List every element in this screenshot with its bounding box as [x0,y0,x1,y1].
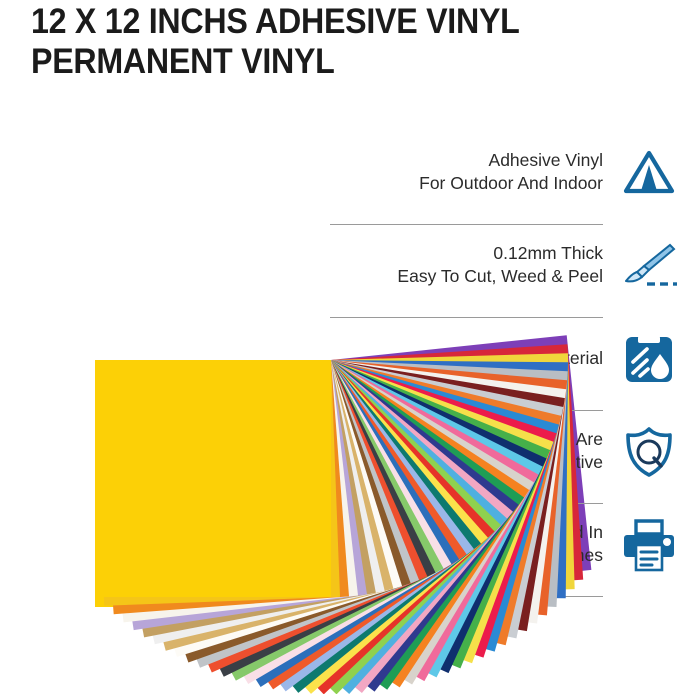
feature-text-adhesive-vinyl: Adhesive Vinyl For Outdoor And Indoor [328,132,603,212]
feature-text-thickness: 0.12mm Thick Easy To Cut, Weed & Peel [328,225,603,305]
page-title-line-1: 12 X 12 INCHS ADHESIVE VINYL [31,2,601,42]
feature-line: For Outdoor And Indoor [419,172,603,195]
vinyl-sheet [95,360,331,597]
quality-shield-icon [621,425,677,479]
feature-row-thickness: 0.12mm Thick Easy To Cut, Weed & Peel [330,225,679,318]
page-title: 12 X 12 INCHS ADHESIVE VINYL PERMANENT V… [31,2,651,82]
craft-knife-icon [621,239,677,293]
product-image-vinyl-fan [0,110,340,597]
feature-line: 0.12mm Thick [493,242,603,265]
tent-icon [621,146,677,200]
vinyl-sheet-fan [0,110,340,597]
feature-line: Easy To Cut, Weed & Peel [397,265,603,288]
printer-icon [621,518,677,572]
page-title-line-2: PERMANENT VINYL [31,42,601,82]
waterproof-icon [621,332,677,386]
feature-line: Adhesive Vinyl [489,149,603,172]
feature-row-adhesive-vinyl: Adhesive Vinyl For Outdoor And Indoor [330,132,679,225]
